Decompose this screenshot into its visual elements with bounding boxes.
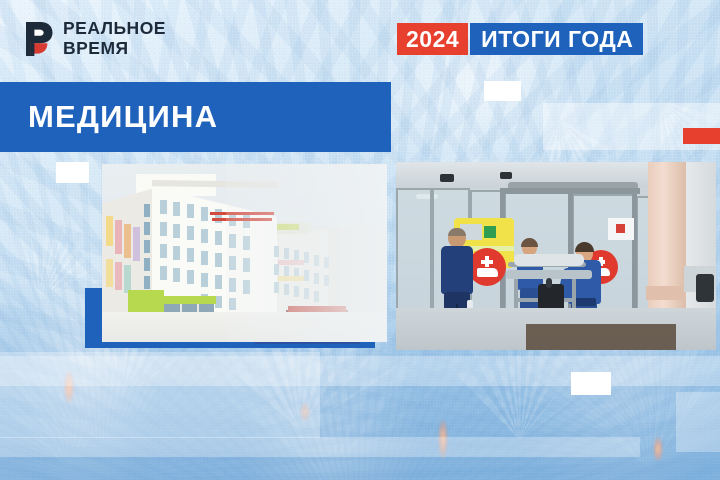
facade-accent-lilac [133,227,140,261]
entrance-floor-mat [526,324,676,350]
person-torso [441,246,473,294]
facade-accent-yellow2 [106,259,113,287]
brand-logo-line1: РЕАЛЬНОЕ [63,20,166,38]
medical-bag-strap [546,278,552,288]
brand-logo-text: РЕАЛЬНОЕ ВРЕМЯ [63,20,166,57]
facade-accent-pink [115,220,122,254]
window [187,226,194,240]
red-cross-horizontal [481,260,493,264]
window [187,270,194,284]
cover-card: РЕАЛЬНОЕ ВРЕМЯ 2024 ИТОГИ ГОДА МЕДИЦИНА [0,0,720,480]
ambulance-car-glyph [477,268,498,277]
category-banner: МЕДИЦИНА [0,82,391,152]
window [187,204,194,218]
window [215,253,222,267]
realnoe-vremya-mark-icon [24,21,54,57]
lobby-column-base [646,286,688,300]
decor-red-accent-bar [683,128,720,144]
wall-sign-red-glyph [616,224,625,233]
window [160,266,167,280]
facade-accent-orange [124,224,131,258]
window [160,222,167,236]
medic-hair [575,242,594,252]
window [201,251,208,265]
ceiling-camera-icon-2 [500,172,512,179]
window [201,229,208,243]
patient-on-stretcher [514,254,584,266]
medic-hair [521,238,538,247]
person-hair [448,228,466,236]
window [201,273,208,287]
window [173,202,180,216]
window [144,240,150,253]
facade-accent-pink2 [115,262,122,290]
hospital-entrance-photo [396,162,716,350]
window [201,207,208,221]
window [215,275,222,289]
window [187,248,194,262]
window [144,258,150,271]
window [144,222,150,235]
year-badge-value: 2024 [397,23,468,55]
door-header-rail [500,188,640,194]
category-banner-label: МЕДИЦИНА [28,99,218,135]
year-badge-title: ИТОГИ ГОДА [470,23,643,55]
hospital-building-photo [102,164,387,342]
brand-logo[interactable]: РЕАЛЬНОЕ ВРЕМЯ [24,20,166,57]
ceiling-camera-icon [440,174,454,182]
window [160,244,167,258]
window [215,231,222,245]
window [160,200,167,214]
window [144,204,150,217]
medic-belt-pouch [574,298,596,306]
waiting-chair [696,274,714,302]
year-results-badge: 2024 ИТОГИ ГОДА [397,23,643,55]
photo-winter-haze [226,164,387,342]
window [173,224,180,238]
window [144,276,150,289]
facade-accent-yellow [106,216,113,246]
ambulance-green-cross-icon [484,226,496,238]
facade-accent-teal [124,265,131,293]
building-green-base-2 [164,296,216,304]
window [215,296,222,308]
brand-logo-line2: ВРЕМЯ [63,40,166,58]
window [173,268,180,282]
window [173,246,180,260]
